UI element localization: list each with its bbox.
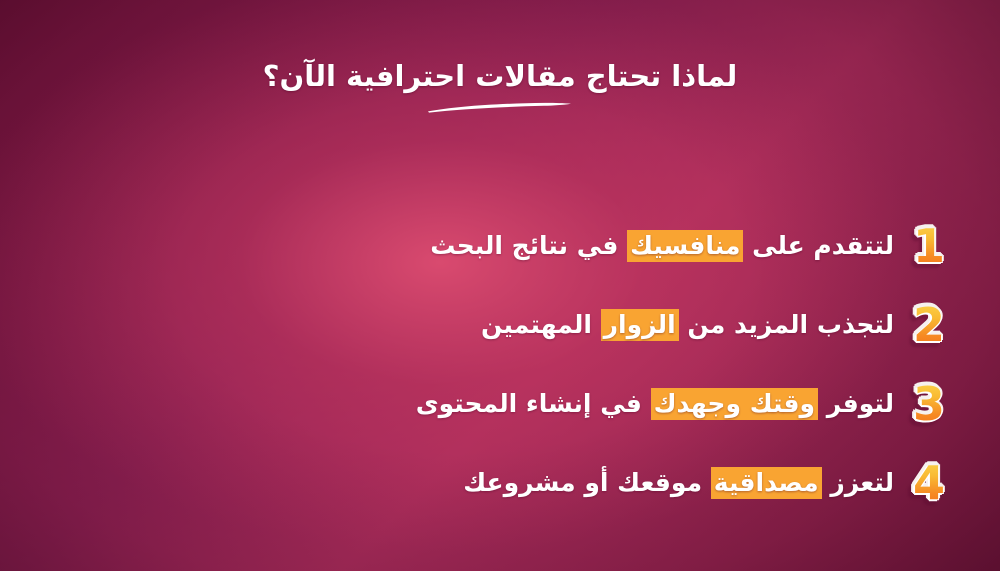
item-highlight: وقتك وجهدك	[651, 388, 819, 420]
title-underline-swash	[425, 100, 575, 114]
list-item: 2 لتجذب المزيد من الزوار المهتمين	[40, 285, 952, 364]
item-text-2: لتجذب المزيد من الزوار المهتمين	[481, 308, 894, 342]
list-item: 4 لتعزز مصداقية موقعك أو مشروعك	[40, 443, 952, 522]
item-text-before: لتعزز	[822, 468, 894, 497]
benefits-list: 1 لتتقدم على منافسيك في نتائج البحث 2 لت…	[40, 206, 952, 522]
item-text-3: لتوفر وقتك وجهدك في إنشاء المحتوى	[416, 387, 894, 421]
slide-canvas: لماذا تحتاج مقالات احترافية الآن؟ 1 لتتق…	[0, 0, 1000, 571]
item-text-after: المهتمين	[481, 310, 601, 339]
item-text-before: لتوفر	[818, 389, 894, 418]
list-item: 3 لتوفر وقتك وجهدك في إنشاء المحتوى	[40, 364, 952, 443]
title-block: لماذا تحتاج مقالات احترافية الآن؟	[0, 58, 1000, 114]
item-text-before: لتجذب المزيد من	[679, 310, 894, 339]
item-number-2: 2	[906, 302, 952, 348]
item-highlight: مصداقية	[711, 467, 822, 499]
item-highlight: الزوار	[601, 309, 679, 341]
item-text-after: في نتائج البحث	[430, 231, 627, 260]
item-number-3: 3	[906, 381, 952, 427]
item-number-4: 4	[906, 460, 952, 506]
item-text-1: لتتقدم على منافسيك في نتائج البحث	[430, 229, 894, 263]
list-item: 1 لتتقدم على منافسيك في نتائج البحث	[40, 206, 952, 285]
page-title: لماذا تحتاج مقالات احترافية الآن؟	[263, 58, 738, 94]
item-highlight: منافسيك	[627, 230, 743, 262]
item-text-before: لتتقدم على	[743, 231, 894, 260]
item-text-after: في إنشاء المحتوى	[416, 389, 651, 418]
item-text-after: موقعك أو مشروعك	[463, 468, 711, 497]
item-text-4: لتعزز مصداقية موقعك أو مشروعك	[463, 466, 894, 500]
item-number-1: 1	[906, 223, 952, 269]
